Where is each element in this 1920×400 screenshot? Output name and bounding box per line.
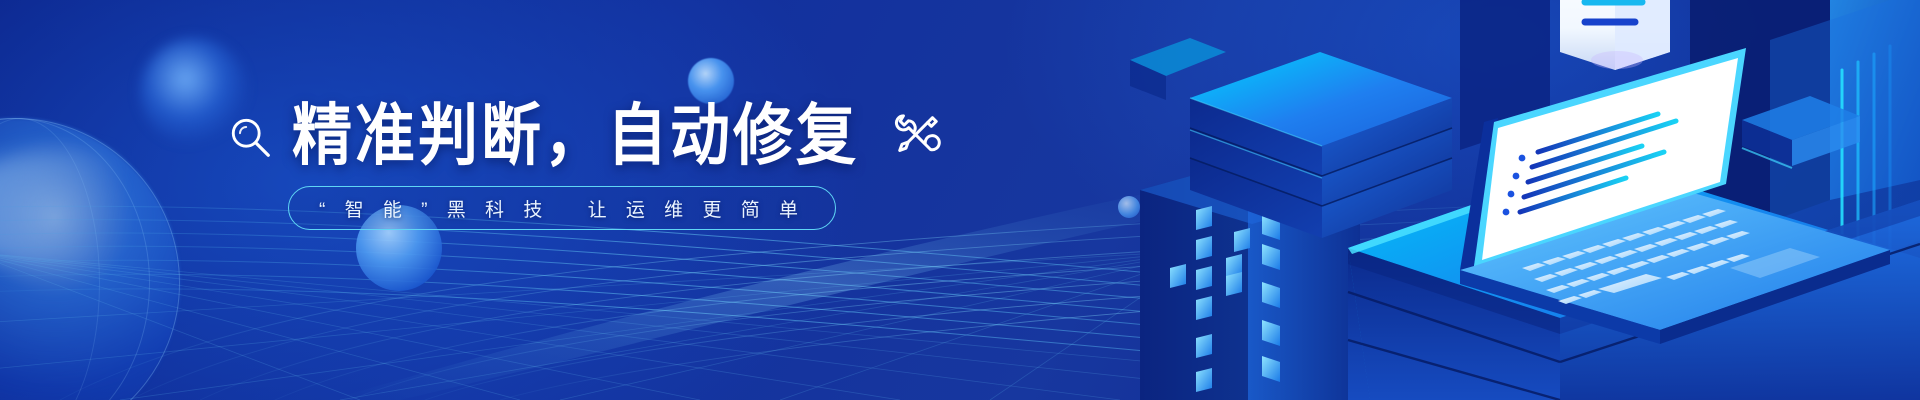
page-title: 精准判断，自动修复 bbox=[292, 102, 859, 169]
globe-ring-mid bbox=[0, 118, 150, 400]
floating-document-card bbox=[1560, 0, 1670, 70]
magnifier-icon bbox=[228, 115, 274, 161]
isometric-illustration bbox=[1130, 0, 1920, 400]
wrench-screwdriver-icon bbox=[887, 106, 947, 166]
subtitle-text: “ 智 能 ” 黑 科 技 让 运 维 更 简 单 bbox=[319, 195, 805, 222]
globe-ring-inner bbox=[0, 118, 100, 400]
globe-sphere bbox=[0, 118, 180, 400]
headline-row: 精准判断，自动修复 bbox=[228, 106, 947, 166]
subtitle-pill: “ 智 能 ” 黑 科 技 让 运 维 更 简 单 bbox=[288, 186, 836, 230]
hero-banner: 精准判断，自动修复 “ 智 能 ” 黑 科 技 让 运 维 更 简 单 bbox=[0, 0, 1920, 400]
globe-ring-outer bbox=[0, 118, 180, 400]
globe-highlight bbox=[0, 150, 190, 270]
